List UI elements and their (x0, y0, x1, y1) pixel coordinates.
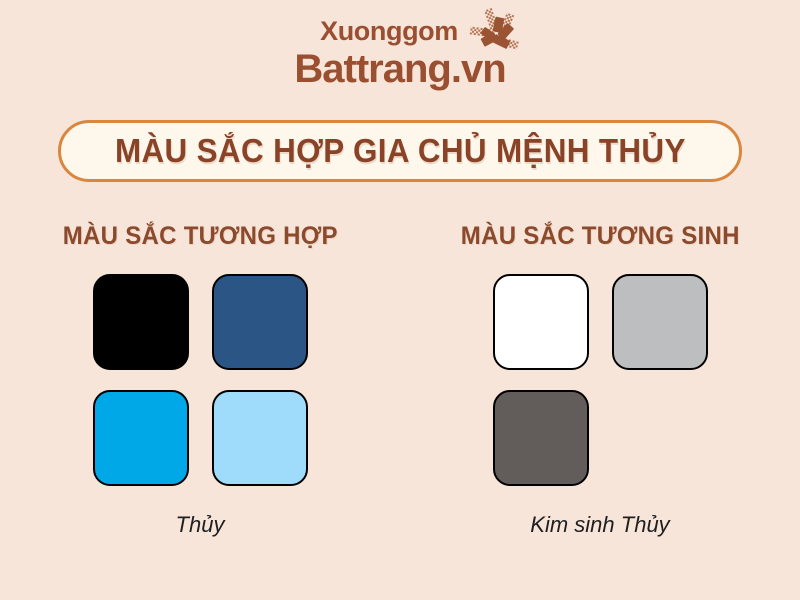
swatch-bright-blue (93, 390, 189, 486)
swatch-grid-left (93, 274, 308, 486)
star-burst-icon (468, 8, 524, 60)
page-title: MÀU SẮC HỢP GIA CHỦ MỆNH THỦY (115, 132, 686, 170)
column-caption-right: Kim sinh Thủy (530, 512, 669, 538)
swatch-dark-gray (493, 390, 589, 486)
swatch-navy-blue (212, 274, 308, 370)
swatch-light-gray (612, 274, 708, 370)
column-heading-left: MÀU SẮC TƯƠNG HỢP (62, 222, 337, 251)
swatch-white (493, 274, 589, 370)
column-caption-left: Thủy (176, 512, 225, 538)
brand-name-line1: Xuonggom (320, 18, 458, 45)
brand-logo: Xuonggom (0, 0, 800, 89)
column-heading-right: MÀU SẮC TƯƠNG SINH (461, 222, 740, 251)
brand-logo-top-row: Xuonggom (270, 14, 530, 48)
swatch-light-sky-blue (212, 390, 308, 486)
swatch-black (93, 274, 189, 370)
swatch-grid-right (493, 274, 708, 486)
page-title-banner: MÀU SẮC HỢP GIA CHỦ MỆNH THỦY (58, 120, 742, 182)
column-tuong-hop: MÀU SẮC TƯƠNG HỢP Thủy (0, 222, 400, 538)
color-columns: MÀU SẮC TƯƠNG HỢP Thủy MÀU SẮC TƯƠNG SIN… (0, 222, 800, 538)
column-tuong-sinh: MÀU SẮC TƯƠNG SINH Kim sinh Thủy (400, 222, 800, 538)
